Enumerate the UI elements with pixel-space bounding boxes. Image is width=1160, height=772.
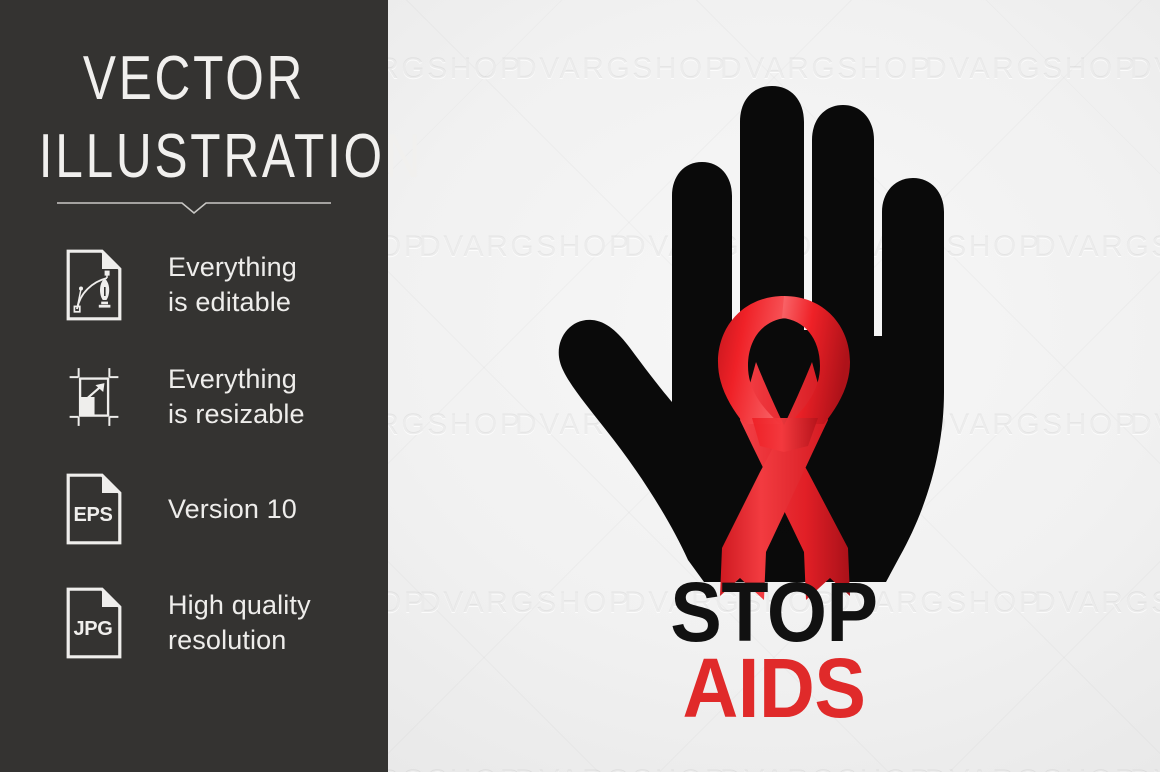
document-pen-tool-icon [66, 247, 122, 323]
title-line-vector: VECTOR [39, 48, 349, 110]
feature-label-resizable: Everything is resizable [168, 362, 305, 431]
headline-stop: STOP [419, 576, 1129, 648]
feature-label-version: Version 10 [168, 492, 297, 527]
feature-label-editable: Everything is editable [168, 250, 297, 319]
sidebar-title-block: VECTOR ILLUSTRATION [0, 48, 388, 188]
poster-canvas: VECTOR ILLUSTRATION [0, 0, 1160, 772]
resize-crop-arrow-icon [66, 359, 122, 435]
jpg-file-icon-text: JPG [73, 618, 112, 640]
artwork-panel: DVARGSHOPDVARGSHOPDVARGSHOPDVARGSHOPDVAR… [388, 0, 1160, 772]
title-divider [57, 198, 331, 216]
feature-label-resolution: High quality resolution [168, 588, 311, 657]
title-line-illustration: ILLUSTRATION [39, 126, 349, 188]
feature-row-resizable: Everything is resizable [0, 352, 388, 442]
feature-row-version: EPS Version 10 [0, 464, 388, 554]
jpg-file-icon: JPG [66, 585, 122, 661]
feature-row-editable: Everything is editable [0, 240, 388, 330]
chevron-down-notch-icon [57, 198, 331, 216]
eps-file-icon: EPS [66, 471, 122, 547]
eps-file-icon-text: EPS [73, 504, 112, 526]
info-sidebar: VECTOR ILLUSTRATION [0, 0, 388, 772]
feature-row-resolution: JPG High quality resolution [0, 578, 388, 668]
headline-aids: AIDS [419, 652, 1129, 724]
